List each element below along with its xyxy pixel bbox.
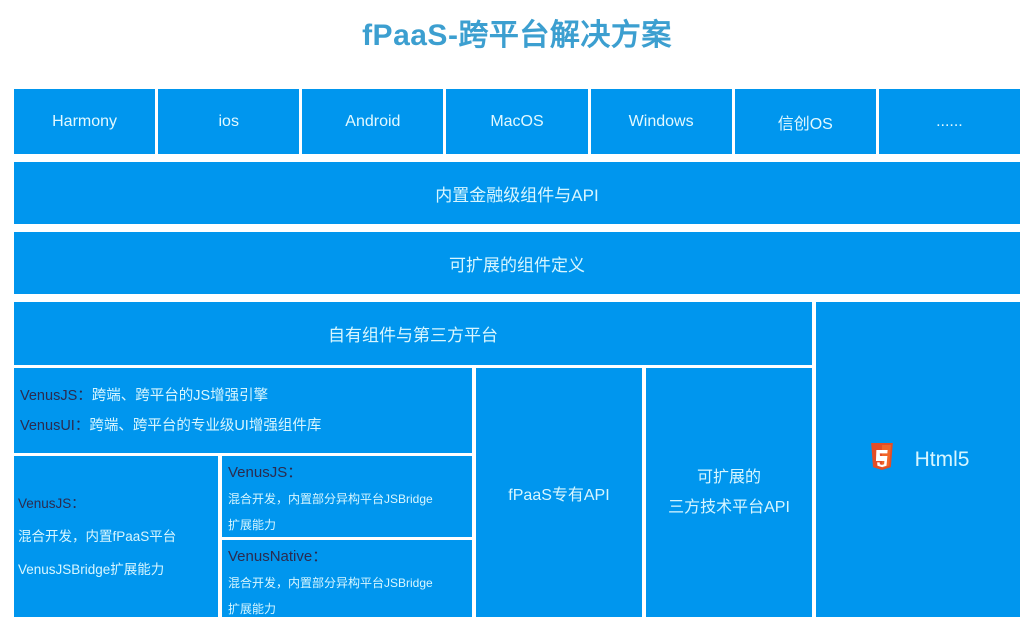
venus-js-fpaas-line2: VenusJSBridge扩展能力 [18, 553, 164, 586]
venus-js-fpaas-line1: 混合开发，内置fPaaS平台 [18, 520, 176, 553]
venus-js-heterogeneous-bridge-box[interactable]: VenusJS： 混合开发，内置部分异构平台JSBridge 扩展能力 [222, 456, 472, 537]
venus-native-key: VenusNative： [228, 544, 327, 570]
platform-cell-harmony[interactable]: Harmony [14, 89, 155, 154]
platform-cell-xinchuang-os[interactable]: 信创OS [735, 89, 876, 154]
platform-cell-ios[interactable]: ios [158, 89, 299, 154]
venus-native-heterogeneous-bridge-box[interactable]: VenusNative： 混合开发，内置部分异构平台JSBridge 扩展能力 [222, 540, 472, 617]
bar-own-and-third-party-components[interactable]: 自有组件与第三方平台 [14, 302, 812, 365]
platform-row: Harmony ios Android MacOS Windows 信创OS .… [14, 89, 1020, 154]
venus-ui-value: 跨端、跨平台的专业级UI增强组件库 [89, 418, 321, 434]
venus-native-line2: 扩展能力 [228, 596, 276, 617]
platform-cell-more[interactable]: ...... [879, 89, 1020, 154]
venus-js-fpaas-bridge-box[interactable]: VenusJS： 混合开发，内置fPaaS平台 VenusJSBridge扩展能… [14, 456, 218, 617]
platform-cell-macos[interactable]: MacOS [446, 89, 587, 154]
venus-js-hetero-line2: 扩展能力 [228, 512, 276, 537]
venus-ui-key: VenusUI： [20, 418, 89, 434]
third-party-api-line1: 可扩展的 [697, 463, 761, 493]
venus-ui-summary-line: VenusUI：跨端、跨平台的专业级UI增强组件库 [20, 411, 321, 441]
platform-cell-android[interactable]: Android [302, 89, 443, 154]
page-title: fPaaS-跨平台解决方案 [0, 16, 1034, 56]
diagram-canvas: fPaaS-跨平台解决方案 Harmony ios Android MacOS … [0, 0, 1034, 634]
venus-native-line1: 混合开发，内置部分异构平台JSBridge [228, 570, 433, 596]
third-party-platform-api-box[interactable]: 可扩展的 三方技术平台API [646, 368, 812, 617]
html5-label: Html5 [915, 448, 970, 472]
fpaas-proprietary-api-box[interactable]: fPaaS专有API [476, 368, 642, 617]
venus-js-key: VenusJS： [20, 388, 92, 404]
bar-extensible-component-definition[interactable]: 可扩展的组件定义 [14, 232, 1020, 294]
venus-js-hetero-line1: 混合开发，内置部分异构平台JSBridge [228, 486, 433, 512]
venus-engine-summary-box[interactable]: VenusJS：跨端、跨平台的JS增强引擎 VenusUI：跨端、跨平台的专业级… [14, 368, 472, 453]
platform-cell-windows[interactable]: Windows [591, 89, 732, 154]
bar-builtin-financial-components-api[interactable]: 内置金融级组件与API [14, 162, 1020, 224]
third-party-api-line2: 三方技术平台API [668, 493, 790, 523]
venus-js-value: 跨端、跨平台的JS增强引擎 [92, 388, 268, 404]
venus-js-fpaas-key: VenusJS： [18, 487, 85, 520]
venus-js-summary-line: VenusJS：跨端、跨平台的JS增强引擎 [20, 381, 268, 411]
html5-box[interactable]: Html5 [816, 302, 1020, 617]
venus-js-hetero-key: VenusJS： [228, 460, 302, 486]
html5-logo-icon [867, 443, 897, 477]
html5-content: Html5 [867, 443, 970, 477]
